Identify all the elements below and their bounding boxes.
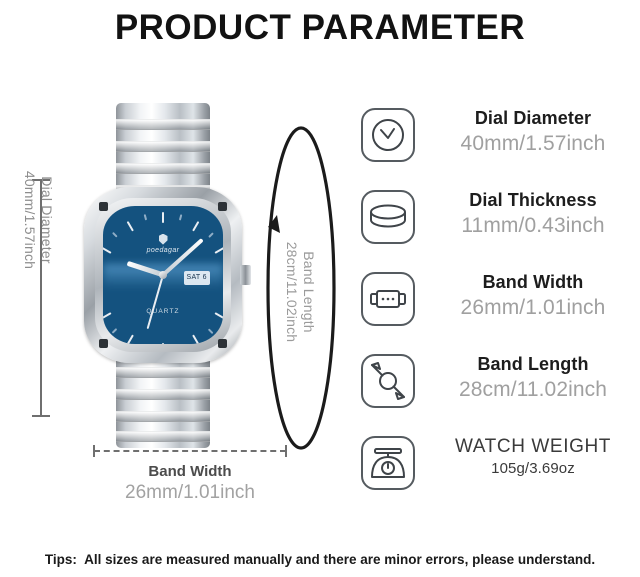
spec-text-watch-weight: WATCH WEIGHT 105g/3.69oz	[427, 435, 639, 480]
watch-day-date-window: SAT 6	[184, 271, 210, 285]
spec-text-band-width: Band Width 26mm/1.01inch	[427, 271, 639, 321]
watch-strap-icon	[361, 354, 415, 408]
spec-label-band-width: Band Width	[427, 271, 639, 294]
band-width-dimension-value: 26mm/1.01inch	[80, 481, 300, 505]
product-diagram: Dial Diameter 40mm/1.57inch	[0, 95, 350, 520]
spec-label-band-length: Band Length	[427, 353, 639, 376]
dial-diameter-dimension-label: Dial Diameter 40mm/1.57inch	[21, 120, 55, 320]
watch-dial: poedagar SAT 6 QUARTZ	[103, 206, 223, 344]
band-length-dimension-label: Band Length 28cm/11.02inch	[283, 192, 317, 392]
band-length-dimension-value: 28cm/11.02inch	[283, 192, 300, 392]
brand-crest-icon	[159, 234, 168, 245]
dial-diameter-dimension-value: 40mm/1.57inch	[21, 120, 38, 320]
specification-list: Dial Diameter 40mm/1.57inch Dial Thickne…	[355, 103, 640, 513]
watch-brand-text: poedagar	[103, 247, 223, 254]
spec-text-dial-thickness: Dial Thickness 11mm/0.43inch	[427, 189, 639, 239]
hands-pinion	[159, 271, 167, 279]
cylinder-icon	[361, 190, 415, 244]
second-hand	[147, 275, 164, 329]
spec-row-band-width: Band Width 26mm/1.01inch	[355, 267, 640, 349]
spec-value-band-length: 28cm/11.02inch	[427, 376, 639, 403]
footer-tip-label: Tips:	[45, 552, 77, 567]
spec-value-dial-diameter: 40mm/1.57inch	[427, 130, 639, 157]
spec-row-dial-diameter: Dial Diameter 40mm/1.57inch	[355, 103, 640, 185]
watch-dial-icon	[361, 108, 415, 162]
spec-value-band-width: 26mm/1.01inch	[427, 294, 639, 321]
spec-value-dial-thickness: 11mm/0.43inch	[427, 212, 639, 239]
spec-value-watch-weight: 105g/3.69oz	[427, 458, 639, 480]
spec-row-band-length: Band Length 28cm/11.02inch	[355, 349, 640, 431]
kitchen-scale-icon	[361, 436, 415, 490]
spec-text-band-length: Band Length 28cm/11.02inch	[427, 353, 639, 403]
watch-image: poedagar SAT 6 QUARTZ	[78, 103, 248, 448]
band-width-dimension-line	[80, 445, 300, 457]
spec-label-dial-thickness: Dial Thickness	[427, 189, 639, 212]
band-length-indicator: Band Length 28cm/11.02inch	[253, 123, 349, 453]
band-width-caption: Band Width 26mm/1.01inch	[80, 445, 300, 505]
watch-movement-text: QUARTZ	[103, 308, 223, 315]
spec-text-dial-diameter: Dial Diameter 40mm/1.57inch	[427, 107, 639, 157]
watch-crown	[240, 265, 251, 285]
spec-row-dial-thickness: Dial Thickness 11mm/0.43inch	[355, 185, 640, 267]
watch-bezel: poedagar SAT 6 QUARTZ	[95, 198, 231, 352]
page-header: PRODUCT PARAMETER	[0, 6, 640, 50]
band-length-dimension-title: Band Length	[300, 192, 317, 392]
spec-row-watch-weight: WATCH WEIGHT 105g/3.69oz	[355, 431, 640, 513]
watch-case: poedagar SAT 6 QUARTZ	[84, 187, 242, 363]
spec-label-watch-weight: WATCH WEIGHT	[427, 435, 639, 458]
spec-label-dial-diameter: Dial Diameter	[427, 107, 639, 130]
band-width-dimension-title: Band Width	[80, 462, 300, 481]
page-title: PRODUCT PARAMETER	[0, 6, 640, 50]
footer-tip-text: All sizes are measured manually and ther…	[84, 552, 595, 567]
watch-clasp-icon	[361, 272, 415, 326]
dial-diameter-dimension-title: Dial Diameter	[38, 120, 55, 320]
footer-tip: Tips: All sizes are measured manually an…	[0, 552, 640, 567]
